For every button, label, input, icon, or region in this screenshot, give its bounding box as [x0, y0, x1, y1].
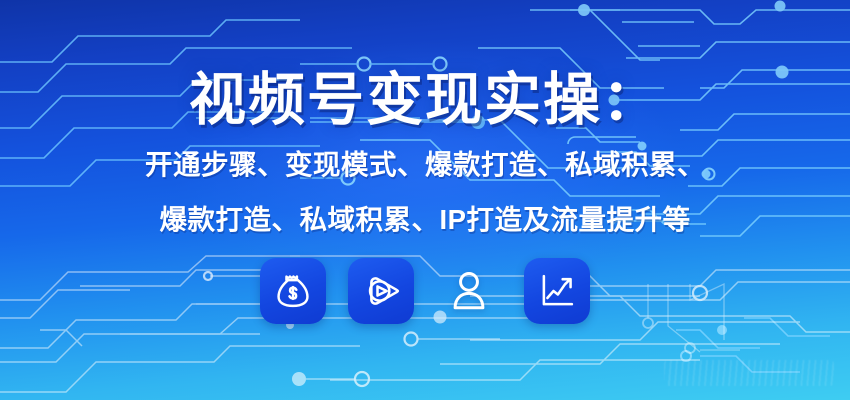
headline-block: 视频号变现实操： 开通步骤、变现模式、爆款打造、私域积累、 爆款打造、私域积累、…: [0, 0, 850, 239]
subtitle-line-2: 爆款打造、私域积累、IP打造及流量提升等: [0, 184, 850, 239]
growth-chart-icon: [536, 270, 578, 312]
icon-tile-money-bag[interactable]: [260, 258, 326, 324]
icon-tile-growth-chart[interactable]: [524, 258, 590, 324]
feature-icon-row: [0, 258, 850, 324]
watermark-texture: [664, 360, 834, 386]
promo-banner: 视频号变现实操： 开通步骤、变现模式、爆款打造、私域积累、 爆款打造、私域积累、…: [0, 0, 850, 400]
user-person-icon: [446, 268, 492, 314]
icon-tile-play-button[interactable]: [348, 258, 414, 324]
icon-tile-user-person[interactable]: [436, 258, 502, 324]
play-button-icon: [360, 270, 402, 312]
money-bag-icon: [272, 270, 314, 312]
page-title: 视频号变现实操：: [0, 0, 850, 129]
subtitle-line-1: 开通步骤、变现模式、爆款打造、私域积累、: [0, 129, 850, 184]
